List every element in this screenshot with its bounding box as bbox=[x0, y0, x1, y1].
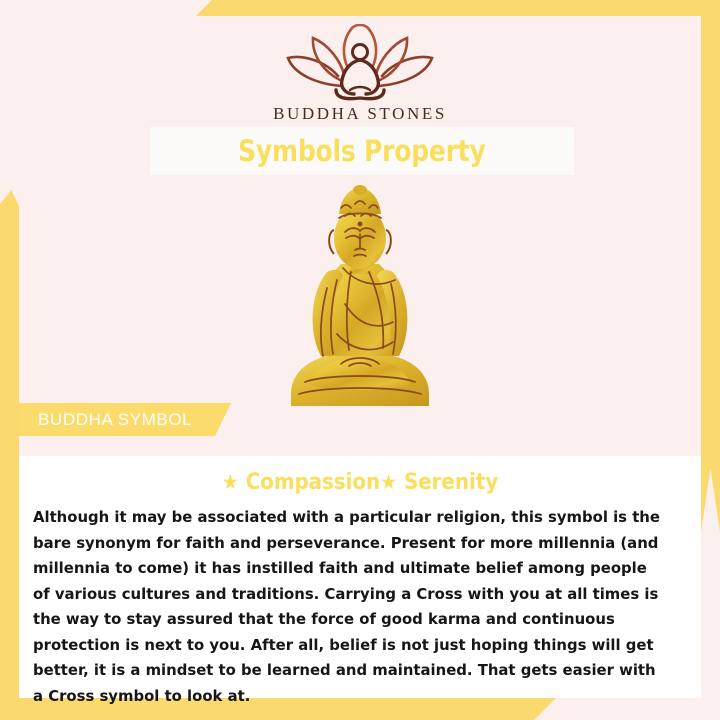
headline-word-compassion: Compassion bbox=[246, 470, 380, 495]
star-icon-left: ★ bbox=[222, 470, 239, 494]
frame-bar-top bbox=[196, 0, 720, 16]
category-ribbon-label: BUDDHA SYMBOL bbox=[38, 410, 192, 430]
page-title: Symbols Property bbox=[238, 134, 485, 168]
content-paragraph: Although it may be associated with a par… bbox=[33, 505, 664, 709]
frame-bar-left bbox=[0, 190, 19, 720]
star-icon-right: ★ bbox=[380, 470, 397, 494]
headline-word-serenity: Serenity bbox=[404, 470, 498, 495]
brand-logo: BUDDHA STONES bbox=[19, 24, 701, 124]
content-card: ★ Compassion★ Serenity Although it may b… bbox=[19, 456, 701, 698]
buddha-illustration bbox=[19, 184, 701, 412]
lotus-meditation-icon bbox=[280, 24, 440, 102]
page-title-band: Symbols Property bbox=[150, 127, 574, 175]
hero-section: BUDDHA STONES Symbols Property bbox=[19, 16, 701, 456]
brand-name: BUDDHA STONES bbox=[19, 104, 701, 124]
category-ribbon: BUDDHA SYMBOL bbox=[19, 403, 231, 436]
seated-buddha-statue bbox=[265, 184, 455, 412]
content-headline: ★ Compassion★ Serenity bbox=[53, 470, 667, 495]
frame-bar-right bbox=[701, 0, 720, 532]
poster-root: BUDDHA STONES Symbols Property bbox=[0, 0, 720, 720]
